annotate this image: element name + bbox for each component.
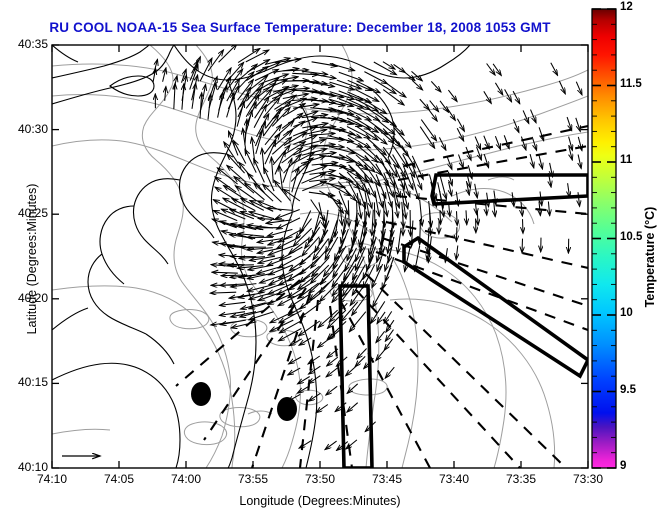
x-tick-label: 74:10 [22,472,82,486]
current-vector [440,210,441,224]
y-tick-label: 40:15 [2,375,48,389]
sst-figure: RU COOL NOAA-15 Sea Surface Temperature:… [0,0,660,519]
colorbar-tick-label: 9.5 [620,384,636,396]
x-tick-label: 74:05 [89,472,149,486]
colorbar-tick-label: 11 [620,154,632,166]
map-layers [52,44,588,468]
current-vector [522,239,523,253]
station-marker [277,397,297,421]
y-tick-label: 40:10 [2,460,48,474]
colorbar-tick-label: 9 [620,460,626,472]
current-vector [523,219,524,233]
x-tick-label: 73:40 [424,472,484,486]
x-tick-label: 73:45 [357,472,417,486]
y-tick-label: 40:35 [2,37,48,51]
current-vector [457,211,458,225]
current-vector [456,227,457,241]
x-tick-label: 73:50 [290,472,350,486]
current-vector [221,275,247,276]
x-tick-label: 73:30 [558,472,618,486]
colorbar [592,9,616,468]
colorbar-tick-label: 11.5 [620,78,642,90]
x-tick-label: 74:00 [156,472,216,486]
current-vector [228,265,254,266]
colorbar-tick-label: 12 [620,1,633,13]
map-plot-area [0,0,660,519]
x-tick-label: 73:55 [223,472,283,486]
y-tick-label: 40:30 [2,122,48,136]
y-tick-label: 40:20 [2,291,48,305]
station-marker [191,382,211,406]
y-tick-label: 40:25 [2,206,48,220]
colorbar-tick-label: 10.5 [620,231,642,243]
x-tick-label: 73:35 [491,472,551,486]
colorbar-tick-label: 10 [620,307,633,319]
